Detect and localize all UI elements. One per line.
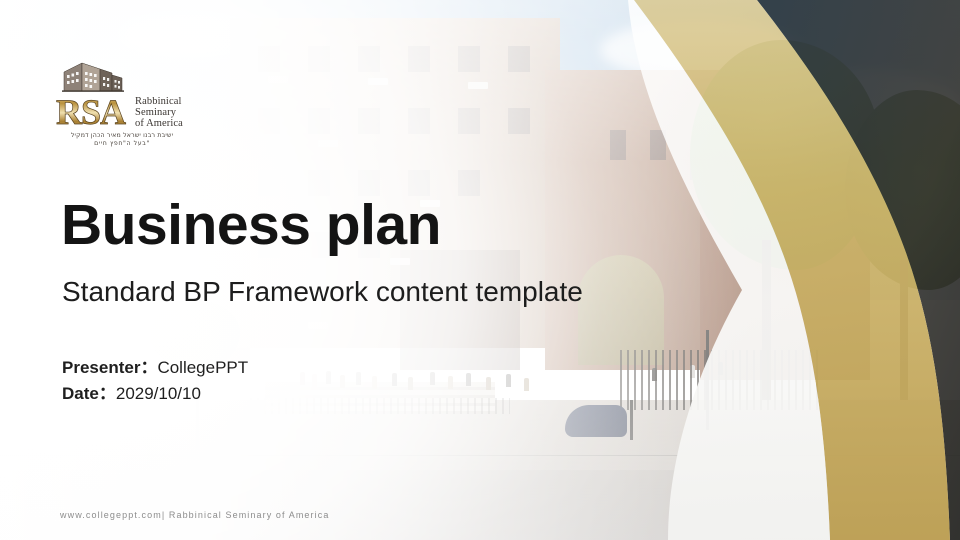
presenter-row: Presenter：CollegePPT	[62, 355, 248, 381]
slide-subtitle: Standard BP Framework content template	[62, 278, 583, 306]
logo-word-line-1: Rabbinical	[135, 96, 183, 107]
logo-wordmark: Rabbinical Seminary of America	[135, 96, 183, 129]
logo-hebrew-tagline: ישיבת רבנו ישראל מאיר הכהן דמקיל בעל ה"ח…	[56, 132, 188, 148]
building-icon	[56, 58, 126, 92]
date-value: 2029/10/10	[116, 384, 201, 403]
presenter-meta-block: Presenter：CollegePPT Date：2029/10/10	[62, 355, 248, 407]
slide-footer: www.collegeppt.com| Rabbinical Seminary …	[60, 510, 329, 520]
presenter-label: Presenter	[62, 358, 140, 377]
date-row: Date：2029/10/10	[62, 381, 248, 407]
slide-title: Business plan	[61, 197, 441, 254]
presentation-slide: RSA Rabbinical Seminary of America ישיבת…	[0, 0, 960, 540]
presenter-separator: ：	[140, 358, 157, 377]
logo-word-line-2: Seminary	[135, 107, 183, 118]
date-separator: ：	[99, 384, 116, 403]
presenter-value: CollegePPT	[157, 358, 248, 377]
logo-word-line-3: of America	[135, 118, 183, 129]
rsa-logo: RSA Rabbinical Seminary of America ישיבת…	[56, 58, 188, 148]
rsa-acronym-text: RSA	[56, 93, 126, 129]
logo-hebrew-line-2: בעל ה"חפץ חיים"	[56, 140, 188, 148]
date-label: Date	[62, 384, 99, 403]
rsa-acronym-icon: RSA	[56, 93, 130, 129]
logo-hebrew-line-1: ישיבת רבנו ישראל מאיר הכהן דמקיל	[56, 132, 188, 140]
